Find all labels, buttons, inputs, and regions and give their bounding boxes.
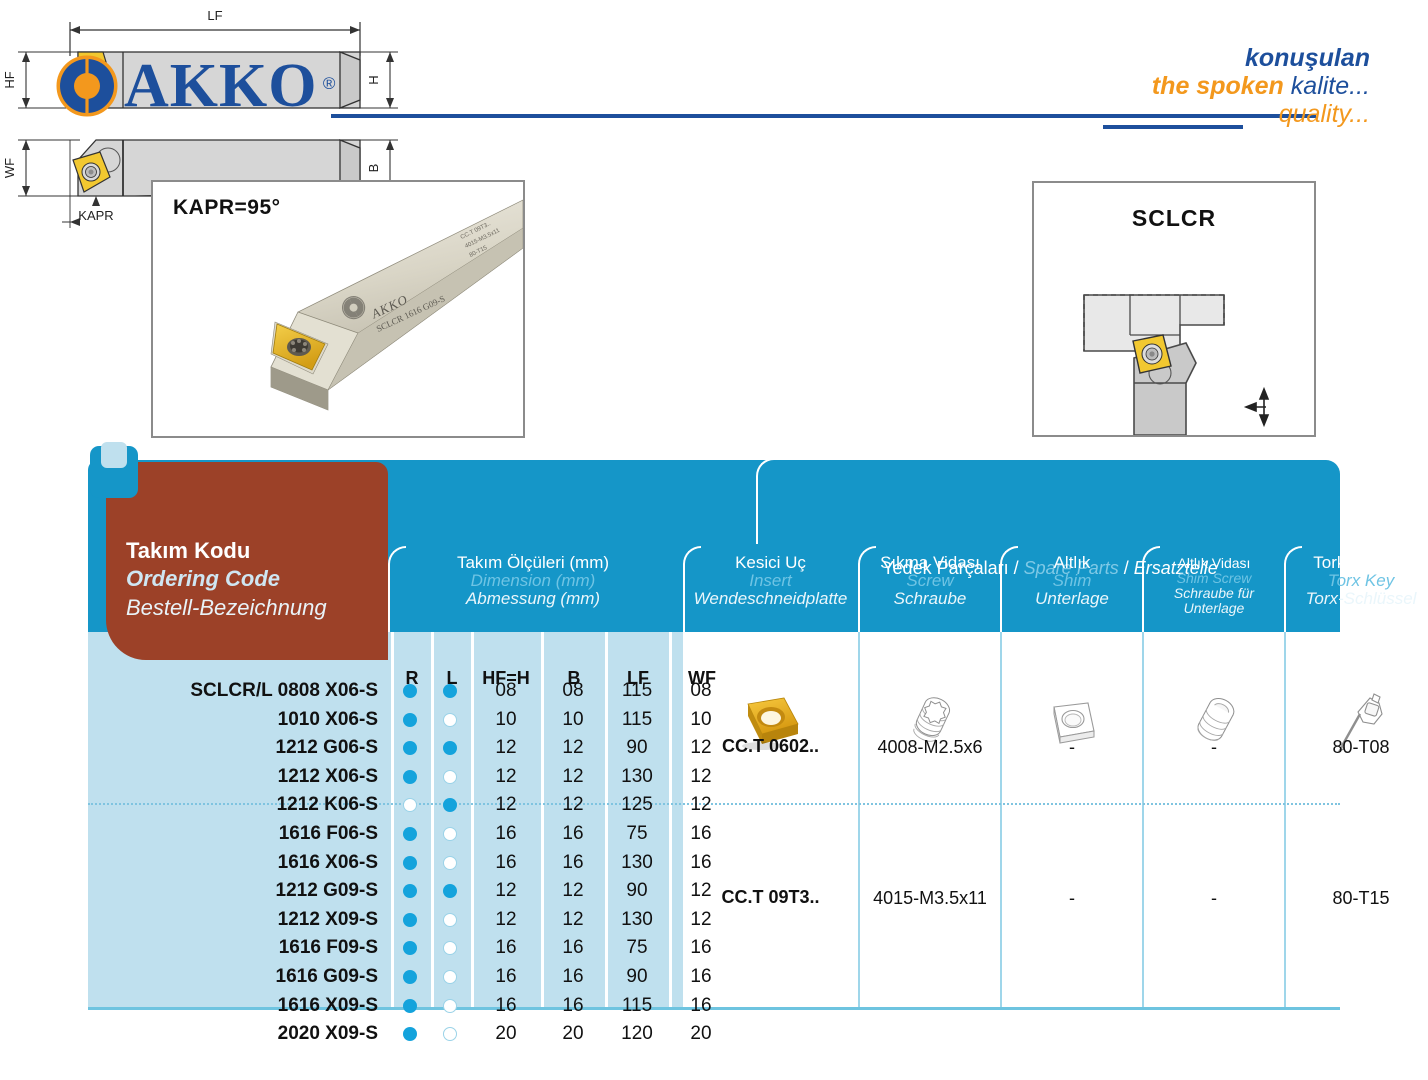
row-ordering-code: 1212 X06-S: [278, 766, 378, 788]
ordering-code-en: Ordering Code: [126, 566, 280, 592]
shim-tr: Altlık: [1002, 554, 1142, 572]
stock-dot-r: [403, 884, 417, 898]
stock-dot-r: [403, 941, 417, 955]
tool-type-panel: SCLCR: [1032, 181, 1316, 437]
table-row[interactable]: 1212 G06-S12129012: [88, 735, 683, 764]
torx-key-value-group-1: 80-T08: [1286, 737, 1428, 758]
cell-wf: 16: [669, 937, 733, 959]
cell-hfh: 12: [471, 737, 541, 759]
table-row[interactable]: 1212 X09-S121213012: [88, 907, 683, 936]
cell-wf: 08: [669, 680, 733, 702]
cell-b: 16: [541, 966, 605, 988]
table-row[interactable]: 2020 X09-S202012020: [88, 1021, 683, 1050]
product-photo-panel: KAPR=95°: [151, 180, 525, 438]
cell-b: 16: [541, 937, 605, 959]
cell-lf: 75: [605, 937, 669, 959]
cell-wf: 12: [669, 909, 733, 931]
shim-screw-de: Schraube für Unterlage: [1144, 586, 1284, 616]
torx-key-de: Torx-Schlüssel: [1286, 590, 1428, 608]
cell-hfh: 10: [471, 709, 541, 731]
cell-hfh: 16: [471, 937, 541, 959]
stock-dot-r: [403, 913, 417, 927]
row-ordering-code: 1616 F06-S: [279, 823, 378, 845]
dimension-en: Dimension (mm): [388, 572, 678, 590]
table-row[interactable]: 1616 X09-S161611516: [88, 993, 683, 1022]
row-ordering-code: 1212 X09-S: [278, 909, 378, 931]
cell-b: 12: [541, 737, 605, 759]
cell-hfh: 20: [471, 1023, 541, 1045]
cell-hfh: 16: [471, 823, 541, 845]
ordering-code-tr: Takım Kodu: [126, 538, 250, 564]
dimension-de: Abmessung (mm): [388, 590, 678, 608]
kapr-label: KAPR: [78, 208, 113, 223]
slogan-line-1: konuşulan: [1040, 46, 1370, 71]
catalog-page: AKKO® konuşulan the spoken kalite... qua…: [0, 0, 1428, 1080]
stock-dot-l: [443, 770, 457, 784]
row-ordering-code: 2020 X09-S: [278, 1023, 378, 1045]
header-divider-insert: [683, 546, 701, 632]
stock-dot-r: [403, 713, 417, 727]
header-divider-spare: [756, 458, 774, 544]
cell-wf: 16: [669, 852, 733, 874]
cell-hfh: 16: [471, 852, 541, 874]
stock-dot-r: [403, 970, 417, 984]
cell-b: 16: [541, 852, 605, 874]
stock-dot-l: [443, 684, 457, 698]
cell-wf: 12: [669, 880, 733, 902]
ordering-code-de: Bestell-Bezeichnung: [126, 595, 327, 621]
stock-dot-r: [403, 856, 417, 870]
header-divider-shim-screw: [1142, 546, 1160, 632]
cell-hfh: 08: [471, 680, 541, 702]
cell-b: 12: [541, 880, 605, 902]
slogan-line-2-tr: kalite...: [1291, 72, 1370, 100]
stock-dot-l: [443, 856, 457, 870]
cell-hfh: 12: [471, 880, 541, 902]
cell-hfh: 12: [471, 794, 541, 816]
hf-label: HF: [2, 71, 17, 88]
header-divider-torx: [1284, 546, 1302, 632]
table-row[interactable]: 1010 X06-S101011510: [88, 707, 683, 736]
cell-b: 12: [541, 766, 605, 788]
screw-value-group-2: 4015-M3.5x11: [860, 888, 1000, 909]
cell-b: 10: [541, 709, 605, 731]
table-row[interactable]: 1616 F09-S16167516: [88, 935, 683, 964]
stock-dot-l: [443, 798, 457, 812]
cell-lf: 130: [605, 909, 669, 931]
torx-key-en: Torx Key: [1286, 572, 1428, 590]
stock-dot-r: [403, 798, 417, 812]
cell-lf: 90: [605, 880, 669, 902]
cell-wf: 20: [669, 1023, 733, 1045]
group-header-shim-screw: Altlık Vidası Shim Screw Schraube für Un…: [1144, 556, 1284, 616]
header-divider-screw: [858, 546, 876, 632]
stock-dot-r: [403, 741, 417, 755]
row-ordering-code: 1010 X06-S: [278, 709, 378, 731]
brand-slogan: konuşulan the spoken kalite... quality..…: [1040, 46, 1370, 127]
row-ordering-code: 1212 G06-S: [276, 737, 378, 759]
wf-label: WF: [2, 158, 17, 178]
ordering-code-block: Takım Kodu Ordering Code Bestell-Bezeich…: [106, 462, 388, 660]
cell-b: 12: [541, 909, 605, 931]
shim-screw-en: Shim Screw: [1144, 571, 1284, 586]
stock-dot-l: [443, 941, 457, 955]
akko-logo-icon: [56, 55, 118, 117]
cell-b: 16: [541, 823, 605, 845]
brand-wordmark: AKKO®: [124, 55, 317, 117]
screw-value-group-1: 4008-M2.5x6: [860, 737, 1000, 758]
table-row[interactable]: 1212 K06-S121212512: [88, 792, 683, 821]
cell-lf: 115: [605, 709, 669, 731]
row-ordering-code: 1616 F09-S: [279, 937, 378, 959]
cell-lf: 130: [605, 766, 669, 788]
slogan-rule: [1103, 125, 1243, 129]
table-row[interactable]: 1616 G09-S16169016: [88, 964, 683, 993]
torx-key-value-group-2: 80-T15: [1286, 888, 1428, 909]
group-header-dimension: Takım Ölçüleri (mm) Dimension (mm) Abmes…: [388, 554, 678, 609]
cell-wf: 10: [669, 709, 733, 731]
row-ordering-code: 1212 G09-S: [276, 880, 378, 902]
row-ordering-code: 1212 K06-S: [277, 794, 378, 816]
shim-screw-value-group-2: -: [1144, 888, 1284, 909]
stock-dot-l: [443, 884, 457, 898]
slogan-line-2: the spoken kalite...: [1040, 74, 1370, 99]
cell-b: 12: [541, 794, 605, 816]
stock-dot-l: [443, 999, 457, 1013]
cell-lf: 130: [605, 852, 669, 874]
screw-de: Schraube: [860, 590, 1000, 608]
cell-b: 08: [541, 680, 605, 702]
lf-label: LF: [207, 8, 222, 23]
column-id-band: [393, 632, 683, 667]
stock-dot-l: [443, 741, 457, 755]
header-divider-shim: [1000, 546, 1018, 632]
group-header-screw: Sıkma Vidası Screw Schraube: [860, 554, 1000, 609]
cell-wf: 16: [669, 966, 733, 988]
brand-logo: AKKO®: [56, 55, 317, 117]
insert-en: Insert: [683, 572, 858, 590]
bookmark-tab-icon: [90, 446, 138, 498]
product-table: Takım Kodu Ordering Code Bestell-Bezeich…: [88, 446, 1340, 1026]
row-ordering-code: SCLCR/L 0808 X06-S: [190, 680, 378, 702]
insert-de: Wendeschneidplatte: [683, 590, 858, 608]
stock-dot-r: [403, 1027, 417, 1041]
torx-key-tr: Tork Anahtar: [1286, 554, 1428, 572]
cell-hfh: 12: [471, 766, 541, 788]
shim-de: Unterlage: [1002, 590, 1142, 608]
group-header-insert: Kesici Uç Insert Wendeschneidplatte: [683, 554, 858, 609]
table-row[interactable]: 1616 F06-S16167516: [88, 821, 683, 850]
shim-value-group-2: -: [1002, 888, 1142, 909]
stock-dot-r: [403, 684, 417, 698]
b-label: B: [366, 164, 381, 173]
cell-hfh: 16: [471, 995, 541, 1017]
table-row[interactable]: SCLCR/L 0808 X06-S080811508: [88, 678, 683, 707]
shim-screw-value-group-1: -: [1144, 737, 1284, 758]
screw-en: Screw: [860, 572, 1000, 590]
cell-lf: 75: [605, 823, 669, 845]
h-label: H: [366, 75, 381, 84]
cell-wf: 12: [669, 737, 733, 759]
group-header-torx-key: Tork Anahtar Torx Key Torx-Schlüssel: [1286, 554, 1428, 609]
cell-wf: 16: [669, 823, 733, 845]
cell-lf: 115: [605, 995, 669, 1017]
registered-mark: ®: [323, 53, 337, 115]
group-header-shim: Altlık Shim Unterlage: [1002, 554, 1142, 609]
slogan-line-3: quality...: [1040, 102, 1370, 127]
cell-wf: 16: [669, 995, 733, 1017]
cell-lf: 90: [605, 737, 669, 759]
row-ordering-code: 1616 X06-S: [278, 852, 378, 874]
shim-screw-tr: Altlık Vidası: [1144, 556, 1284, 571]
tool-holder-photo: AKKO SCLCR 1616 G09-S CC.T 09T3.. 4015-M…: [153, 182, 523, 436]
cell-hfh: 12: [471, 909, 541, 931]
stock-dot-l: [443, 913, 457, 927]
insert-tr: Kesici Uç: [683, 554, 858, 572]
cell-lf: 125: [605, 794, 669, 816]
shim-en: Shim: [1002, 572, 1142, 590]
table-row[interactable]: 1212 X06-S121213012: [88, 764, 683, 793]
stock-dot-r: [403, 999, 417, 1013]
stock-dot-l: [443, 713, 457, 727]
brand-name: AKKO: [124, 52, 317, 120]
row-ordering-code: 1616 X09-S: [278, 995, 378, 1017]
cell-hfh: 16: [471, 966, 541, 988]
row-ordering-code: 1616 G09-S: [276, 966, 378, 988]
cell-wf: 12: [669, 794, 733, 816]
slogan-line-2-en: the spoken: [1152, 72, 1284, 100]
cell-lf: 115: [605, 680, 669, 702]
cell-b: 20: [541, 1023, 605, 1045]
cell-lf: 90: [605, 966, 669, 988]
header-divider-dimension: [388, 546, 406, 632]
cell-wf: 12: [669, 766, 733, 788]
stock-dot-l: [443, 970, 457, 984]
table-row[interactable]: 1616 X06-S161613016: [88, 850, 683, 879]
screw-tr: Sıkma Vidası: [860, 554, 1000, 572]
cell-b: 16: [541, 995, 605, 1017]
stock-dot-r: [403, 770, 417, 784]
table-row[interactable]: 1212 G09-S12129012: [88, 878, 683, 907]
shim-value-group-1: -: [1002, 737, 1142, 758]
stock-dot-l: [443, 1027, 457, 1041]
stock-dot-r: [403, 827, 417, 841]
stock-dot-l: [443, 827, 457, 841]
dimension-tr: Takım Ölçüleri (mm): [388, 554, 678, 572]
cell-lf: 120: [605, 1023, 669, 1045]
